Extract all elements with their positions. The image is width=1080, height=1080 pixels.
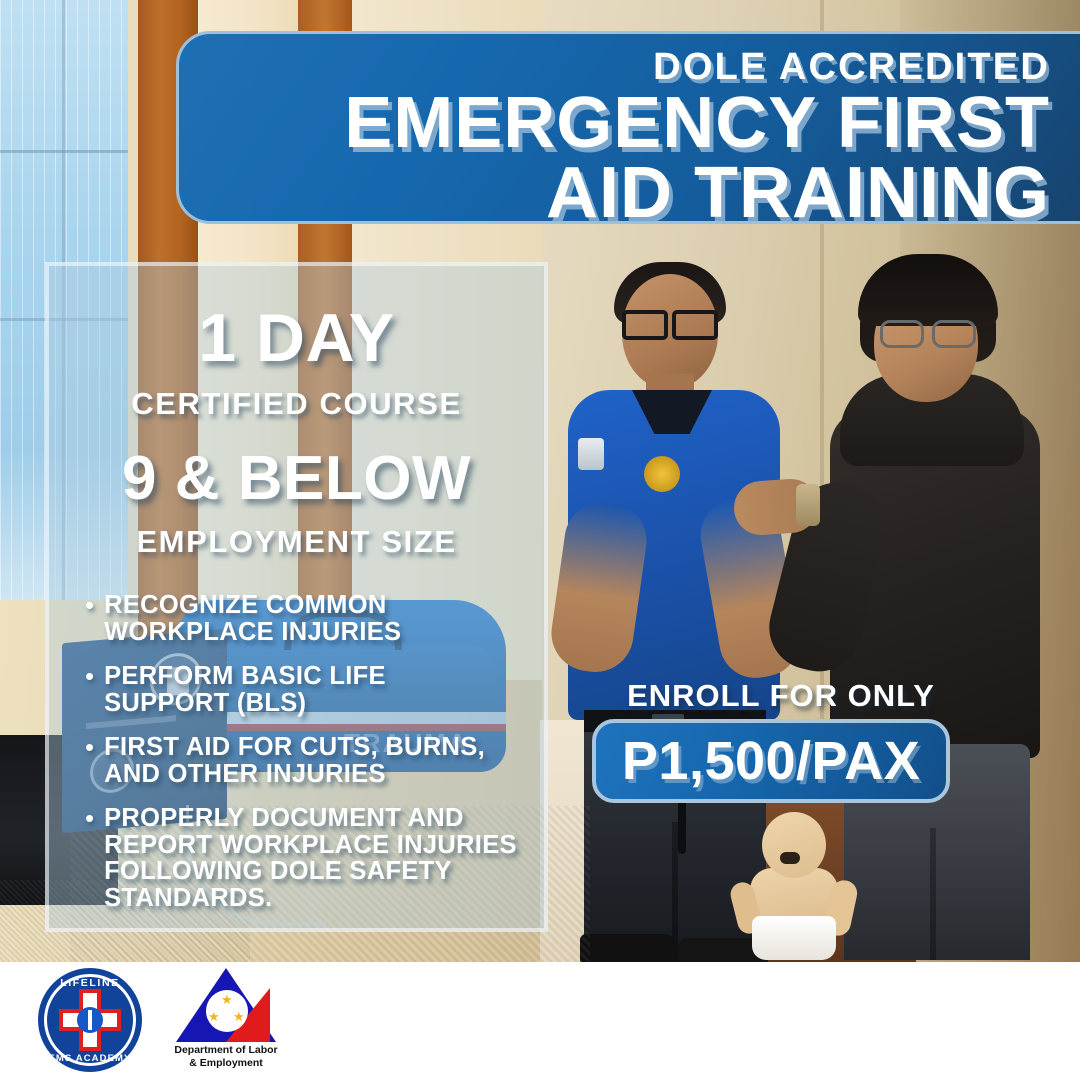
header-banner: DOLE ACCREDITED EMERGENCY FIRST AID TRAI… (176, 31, 1080, 224)
dole-stars: ★ ★ ★ (206, 992, 248, 1032)
course-duration-subtitle: CERTIFIED COURSE (75, 386, 518, 422)
lifeline-ems-academy-logo: LIFELINE EMS ACADEMY (38, 968, 142, 1072)
footer: LIFELINE EMS ACADEMY ★ ★ ★ (0, 962, 1080, 1080)
header-kicker: DOLE ACCREDITED (179, 48, 1050, 86)
list-item-label: FIRST AID FOR CUTS, BURNS, AND OTHER INJ… (104, 734, 518, 787)
logo-text-top: LIFELINE (38, 977, 142, 989)
employment-size-subtitle: EMPLOYMENT SIZE (75, 524, 518, 560)
course-topics-list: • RECOGNIZE COMMON WORKPLACE INJURIES • … (75, 592, 518, 911)
student-glasses (880, 320, 976, 342)
list-item: • FIRST AID FOR CUTS, BURNS, AND OTHER I… (85, 734, 518, 787)
student-figure (830, 258, 1060, 962)
enroll-label: ENROLL FOR ONLY (596, 678, 966, 714)
poster-canvas: M TRAUMA DOLE ACCREDITED EMERGENCY FIRST… (0, 0, 1080, 1080)
list-item: • RECOGNIZE COMMON WORKPLACE INJURIES (85, 592, 518, 645)
mannequin-mouth (780, 852, 800, 864)
logo-text-bottom: EMS ACADEMY (38, 1053, 142, 1064)
instructor-badge (644, 456, 680, 492)
star-icon: ★ (221, 992, 233, 1008)
header-title-line2: AID TRAINING (179, 159, 1050, 229)
bullet-icon: • (85, 592, 94, 619)
star-icon: ★ (208, 1009, 220, 1025)
employment-size-value: 9 & BELOW (75, 448, 518, 510)
course-duration: 1 DAY (75, 304, 518, 372)
dole-logo-label: Department of Labor & Employment (170, 1044, 282, 1070)
logo-group: LIFELINE EMS ACADEMY ★ ★ ★ (38, 968, 282, 1072)
price-badge: P1,500/PAX (592, 719, 950, 803)
list-item: • PROPERLY DOCUMENT AND REPORT WORKPLACE… (85, 805, 518, 911)
window-mullion (0, 150, 133, 153)
star-of-life-icon (77, 1007, 103, 1033)
bullet-icon: • (85, 734, 94, 761)
medical-cross-icon (59, 989, 121, 1051)
list-item-label: PROPERLY DOCUMENT AND REPORT WORKPLACE I… (104, 805, 518, 911)
instructor-shoe (580, 934, 676, 962)
list-item: • PERFORM BASIC LIFE SUPPORT (BLS) (85, 663, 518, 716)
bullet-icon: • (85, 663, 94, 690)
list-item-label: RECOGNIZE COMMON WORKPLACE INJURIES (104, 592, 518, 645)
list-item-label: PERFORM BASIC LIFE SUPPORT (BLS) (104, 663, 518, 716)
instructor-glasses (622, 310, 718, 332)
student-watch (796, 484, 820, 526)
instructor-patch (578, 438, 604, 470)
infant-mannequin (736, 812, 854, 962)
course-info-panel: 1 DAY CERTIFIED COURSE 9 & BELOW EMPLOYM… (45, 262, 548, 932)
student-hair-top (858, 254, 998, 326)
price-amount: P1,500/PAX (622, 730, 920, 792)
header-title-line1: EMERGENCY FIRST (179, 89, 1050, 159)
star-icon: ★ (233, 1009, 245, 1025)
bullet-icon: • (85, 805, 94, 832)
mannequin-diaper (752, 916, 836, 960)
mannequin-head (762, 812, 826, 878)
dole-logo: ★ ★ ★ Department of Labor & Employment (170, 968, 282, 1072)
student-leg-split (930, 828, 936, 960)
